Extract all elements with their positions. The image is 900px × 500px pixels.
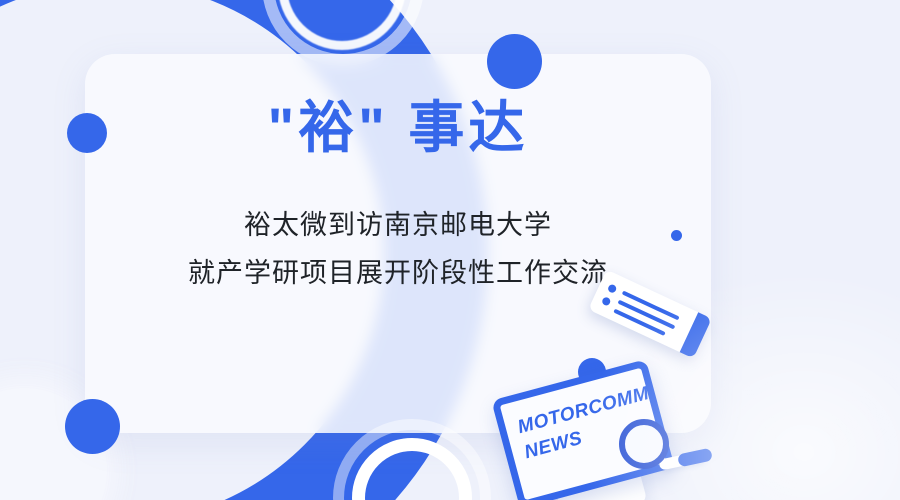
subtitle-line-1: 裕太微到访南京邮电大学 bbox=[188, 202, 608, 249]
subtitle-line-2: 就产学研项目展开阶段性工作交流 bbox=[188, 250, 608, 297]
magnifying-glass-icon bbox=[619, 419, 669, 469]
page-title: "裕" 事达 bbox=[268, 96, 529, 160]
news-banner: "裕" 事达 裕太微到访南京邮电大学 就产学研项目展开阶段性工作交流 MOTOR… bbox=[0, 0, 900, 500]
subtitle: 裕太微到访南京邮电大学 就产学研项目展开阶段性工作交流 bbox=[188, 160, 608, 297]
